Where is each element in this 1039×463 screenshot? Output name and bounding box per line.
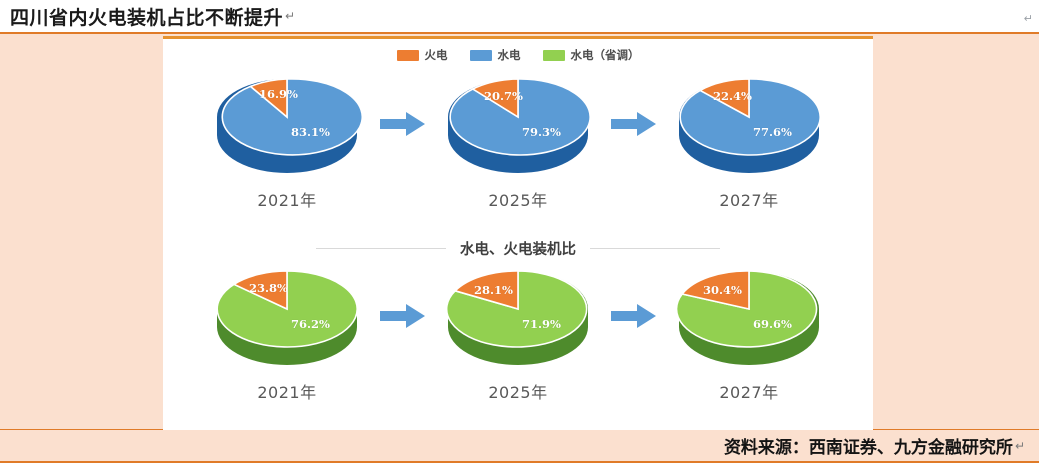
pie-value-label-thermal-2025: 20.7% — [484, 89, 523, 103]
caption-text-1: 水电、火电装机比 — [460, 238, 576, 259]
chart-canvas: 火电 水电 水电（省调） — [163, 36, 873, 430]
pie-svg-2027-hydro — [669, 65, 829, 183]
document-heading: 四川省内火电装机占比不断提升 ↵ — [0, 0, 1039, 32]
pie-graphic-2025-hydro: 20.7% 79.3% — [438, 65, 598, 183]
pie-row-hydro-thermal: 16.9% 83.1% 2021年 — [163, 65, 873, 215]
pie-value-label-thermal-2021-prov: 23.8% — [249, 281, 288, 295]
source-bar: 资料来源：西南证券、九方金融研究所 ↵ — [0, 430, 1039, 463]
legend-swatch-thermal — [397, 50, 419, 61]
pie-graphic-2027-hydro: 22.4% 77.6% — [669, 65, 829, 183]
legend-item-hydro-provincial[interactable]: 水电（省调） — [543, 47, 640, 63]
arrow-cell-1 — [375, 65, 431, 183]
paragraph-mark-icon: ↵ — [285, 9, 295, 23]
pie-year-label-2027-hydro: 2027年 — [719, 187, 778, 211]
pie-row-hydro-provincial-thermal: 23.8% 76.2% 2021年 — [163, 257, 873, 407]
arrow-right-icon — [611, 303, 657, 329]
pie-value-label-hydro-2021: 83.1% — [291, 125, 330, 139]
pie-value-label-hydro-provincial-2021: 76.2% — [291, 317, 330, 331]
pie-chart-2027-hydro-provincial[interactable]: 30.4% 69.6% 2027年 — [662, 257, 837, 403]
pie-value-label-thermal-2027: 22.4% — [713, 89, 752, 103]
pie-year-label-2021-hydro-provincial: 2021年 — [257, 379, 316, 403]
legend-label-hydro-provincial: 水电（省调） — [571, 47, 640, 63]
margin-paragraph-mark-1: ↵ — [1024, 12, 1033, 25]
pie-value-label-hydro-provincial-2027: 69.6% — [753, 317, 792, 331]
pie-chart-2025-hydro[interactable]: 20.7% 79.3% 2025年 — [431, 65, 606, 211]
pie-chart-2021-hydro[interactable]: 16.9% 83.1% 2021年 — [200, 65, 375, 211]
source-paragraph-mark-icon: ↵ — [1015, 439, 1025, 453]
chart-legend: 火电 水电 水电（省调） — [163, 47, 873, 63]
arrow-right-icon — [380, 303, 426, 329]
pie-year-label-2025-hydro: 2025年 — [488, 187, 547, 211]
pie-chart-2021-hydro-provincial[interactable]: 23.8% 76.2% 2021年 — [200, 257, 375, 403]
pie-svg-2025-hydro-provincial — [438, 257, 598, 375]
caption-rule-right-1 — [590, 248, 720, 249]
pie-chart-2027-hydro[interactable]: 22.4% 77.6% 2027年 — [662, 65, 837, 211]
pie-year-label-2021-hydro: 2021年 — [257, 187, 316, 211]
pie-svg-2021-hydro-provincial — [207, 257, 367, 375]
arrow-cell-2 — [606, 65, 662, 183]
figure-panel: 火电 水电 水电（省调） — [0, 32, 1039, 430]
legend-label-hydro: 水电 — [498, 47, 521, 63]
pie-graphic-2021-hydro-provincial: 23.8% 76.2% — [207, 257, 367, 375]
pie-year-label-2027-hydro-provincial: 2027年 — [719, 379, 778, 403]
legend-item-hydro[interactable]: 水电 — [470, 47, 521, 63]
legend-item-thermal[interactable]: 火电 — [397, 47, 448, 63]
arrow-right-icon — [611, 111, 657, 137]
pie-value-label-hydro-2025: 79.3% — [522, 125, 561, 139]
pie-svg-2025-hydro — [438, 65, 598, 183]
legend-swatch-hydro-provincial — [543, 50, 565, 61]
arrow-cell-3 — [375, 257, 431, 375]
pie-value-label-thermal-2027-prov: 30.4% — [703, 283, 742, 297]
pie-value-label-hydro-2027: 77.6% — [753, 125, 792, 139]
arrow-right-icon — [380, 111, 426, 137]
arrow-cell-4 — [606, 257, 662, 375]
source-text: 资料来源：西南证券、九方金融研究所 — [724, 433, 1013, 458]
pie-svg-2027-hydro-provincial — [669, 257, 829, 375]
pie-graphic-2021-hydro: 16.9% 83.1% — [207, 65, 367, 183]
pie-chart-2025-hydro-provincial[interactable]: 28.1% 71.9% 2025年 — [431, 257, 606, 403]
pie-graphic-2025-hydro-provincial: 28.1% 71.9% — [438, 257, 598, 375]
pie-svg-2021-hydro — [207, 65, 367, 183]
pie-year-label-2025-hydro-provincial: 2025年 — [488, 379, 547, 403]
legend-swatch-hydro — [470, 50, 492, 61]
pie-value-label-thermal-2021: 16.9% — [259, 87, 298, 101]
pie-value-label-thermal-2025-prov: 28.1% — [474, 283, 513, 297]
pie-value-label-hydro-provincial-2025: 71.9% — [522, 317, 561, 331]
page-title: 四川省内火电装机占比不断提升 — [10, 3, 283, 30]
caption-rule-left-1 — [316, 248, 446, 249]
pie-graphic-2027-hydro-provincial: 30.4% 69.6% — [669, 257, 829, 375]
legend-label-thermal: 火电 — [425, 47, 448, 63]
